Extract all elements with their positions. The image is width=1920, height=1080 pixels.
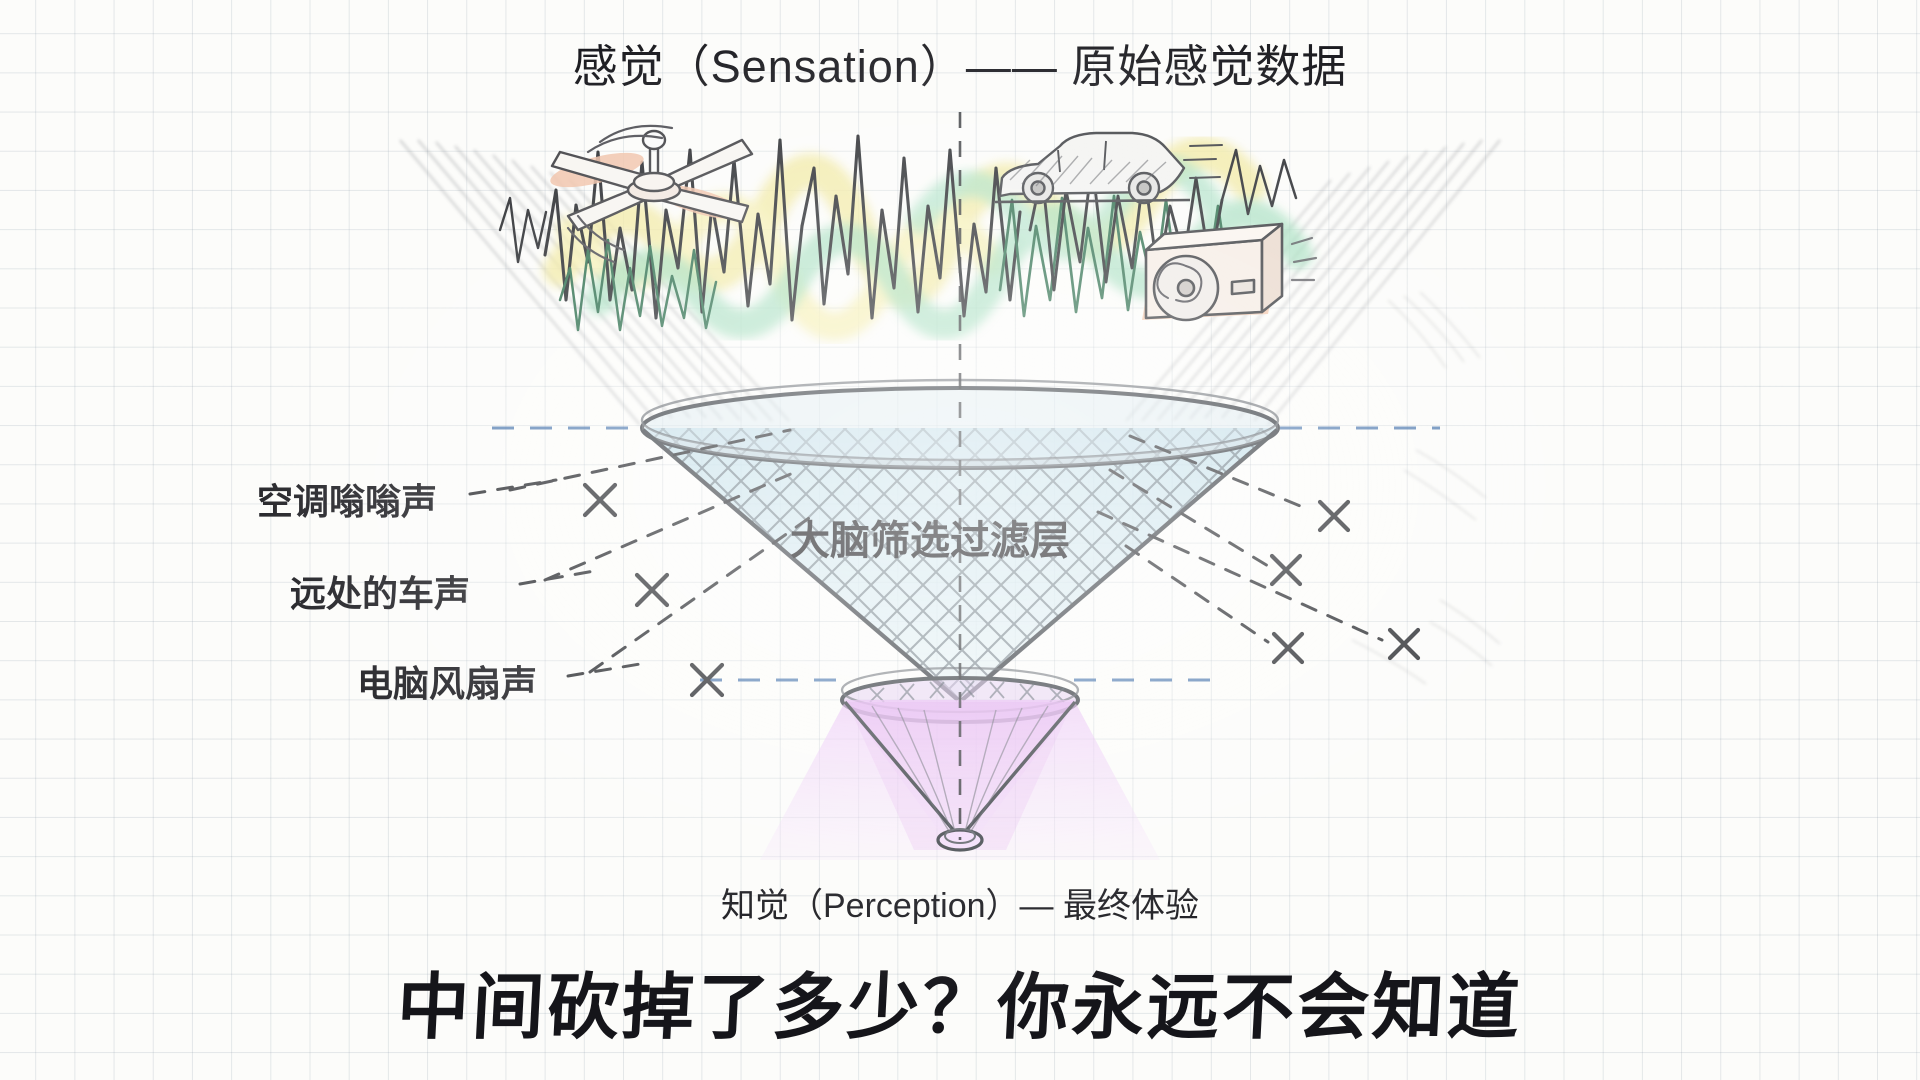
filtered-item-label-1: 远处的车声 [290,565,470,617]
filtered-item-label-0: 空调嗡嗡声 [257,473,437,525]
headline-text: 中间砍掉了多少？你永远不会知道 [0,948,1920,1053]
filter-layer-label: 大脑筛选过滤层 [790,508,1070,566]
x-marks-right [1272,502,1418,662]
sensation-title: 感觉（Sensation）—— 原始感觉数据 [0,30,1920,95]
perception-label: 知觉（Perception）— 最终体验 [0,878,1920,927]
x-marks-left [585,485,722,695]
filtered-item-label-2: 电脑风扇声 [357,655,537,707]
diagram-canvas: 感觉（Sensation）—— 原始感觉数据 大脑筛选过滤层 空调嗡嗡声 远处的… [0,0,1920,1080]
